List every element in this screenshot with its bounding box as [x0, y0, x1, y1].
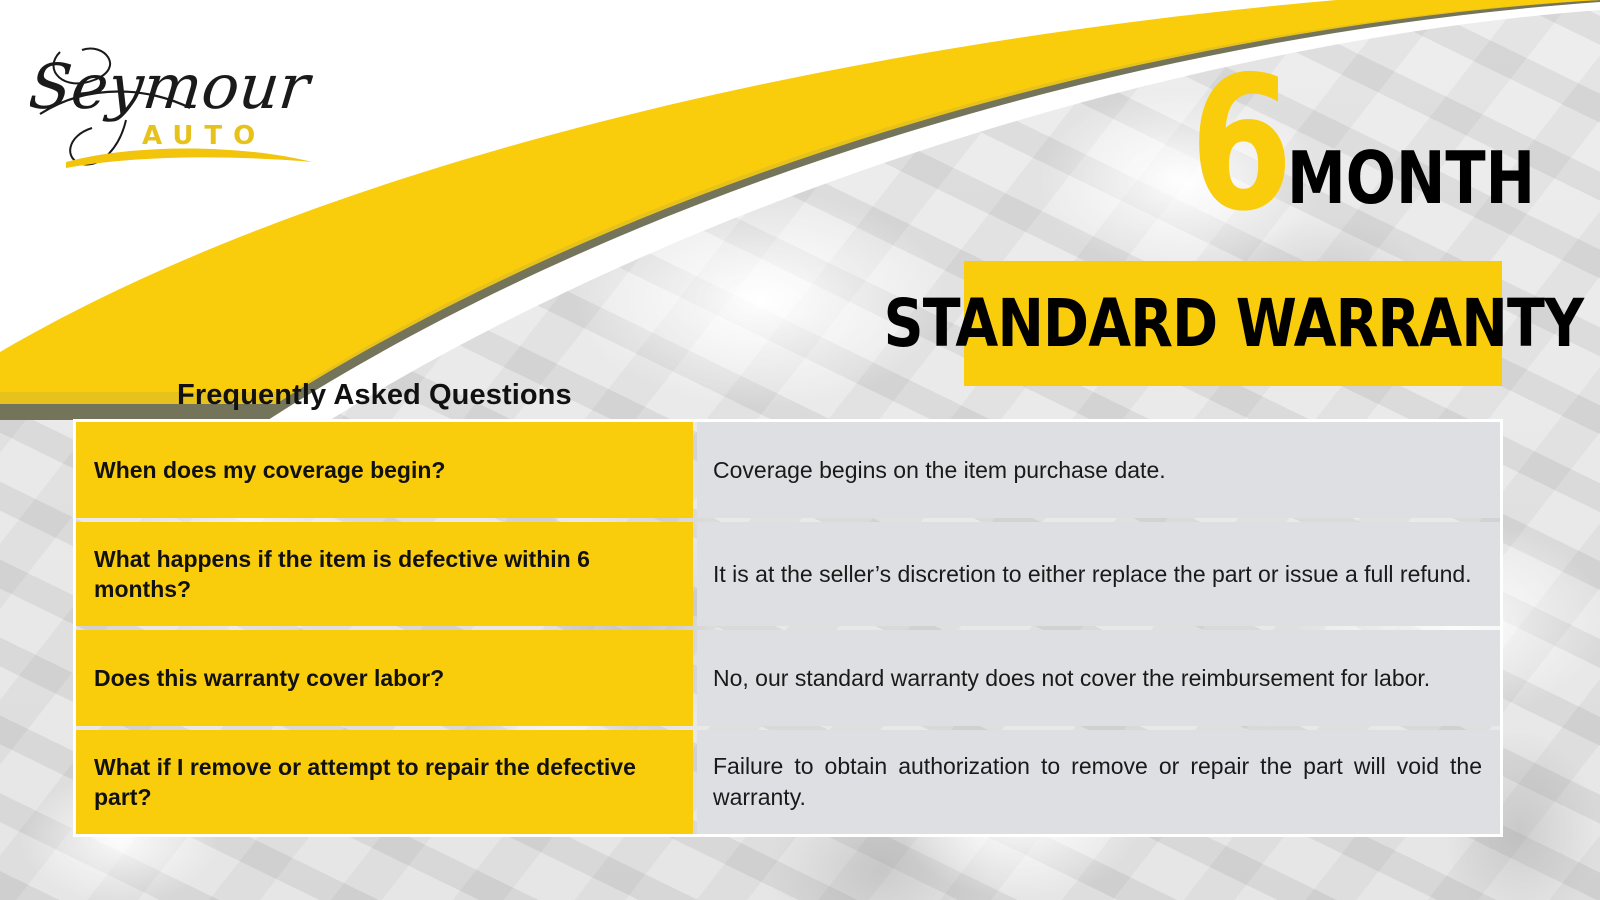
table-row: Does this warranty cover labor? No, our … — [76, 630, 1500, 726]
faq-question: When does my coverage begin? — [76, 422, 693, 518]
banner-title: STANDARD WARRANTY — [883, 285, 1583, 362]
faq-table: When does my coverage begin? Coverage be… — [73, 419, 1503, 837]
faq-question: What happens if the item is defective wi… — [76, 522, 693, 626]
table-row: What happens if the item is defective wi… — [76, 522, 1500, 626]
warranty-duration-headline: 6 MONTH — [1190, 72, 1589, 216]
duration-unit: MONTH — [1287, 149, 1535, 208]
logo-script-text: Seymour — [30, 50, 316, 123]
faq-question: Does this warranty cover labor? — [76, 630, 693, 726]
faq-answer: Coverage begins on the item purchase dat… — [697, 422, 1500, 518]
faq-answer-text: It is at the seller’s discretion to eith… — [713, 559, 1482, 590]
faq-answer: It is at the seller’s discretion to eith… — [697, 522, 1500, 626]
faq-answer: No, our standard warranty does not cover… — [697, 630, 1500, 726]
faq-answer-text: Coverage begins on the item purchase dat… — [713, 455, 1482, 486]
seymour-auto-logo: Seymour AUTO — [30, 22, 330, 172]
faq-answer: Failure to obtain authorization to remov… — [697, 730, 1500, 834]
faq-answer-text: No, our standard warranty does not cover… — [713, 663, 1482, 694]
faq-answer-text: Failure to obtain authorization to remov… — [713, 751, 1482, 813]
faq-section-title: Frequently Asked Questions — [177, 379, 572, 412]
duration-number: 6 — [1190, 72, 1290, 216]
logo-auto-text: AUTO — [142, 121, 266, 151]
table-row: When does my coverage begin? Coverage be… — [76, 422, 1500, 518]
table-row: What if I remove or attempt to repair th… — [76, 730, 1500, 834]
warranty-slide: Seymour AUTO 6 MONTH STANDARD WARRANTY F… — [0, 0, 1600, 900]
standard-warranty-banner: STANDARD WARRANTY — [964, 261, 1502, 386]
faq-question: What if I remove or attempt to repair th… — [76, 730, 693, 834]
